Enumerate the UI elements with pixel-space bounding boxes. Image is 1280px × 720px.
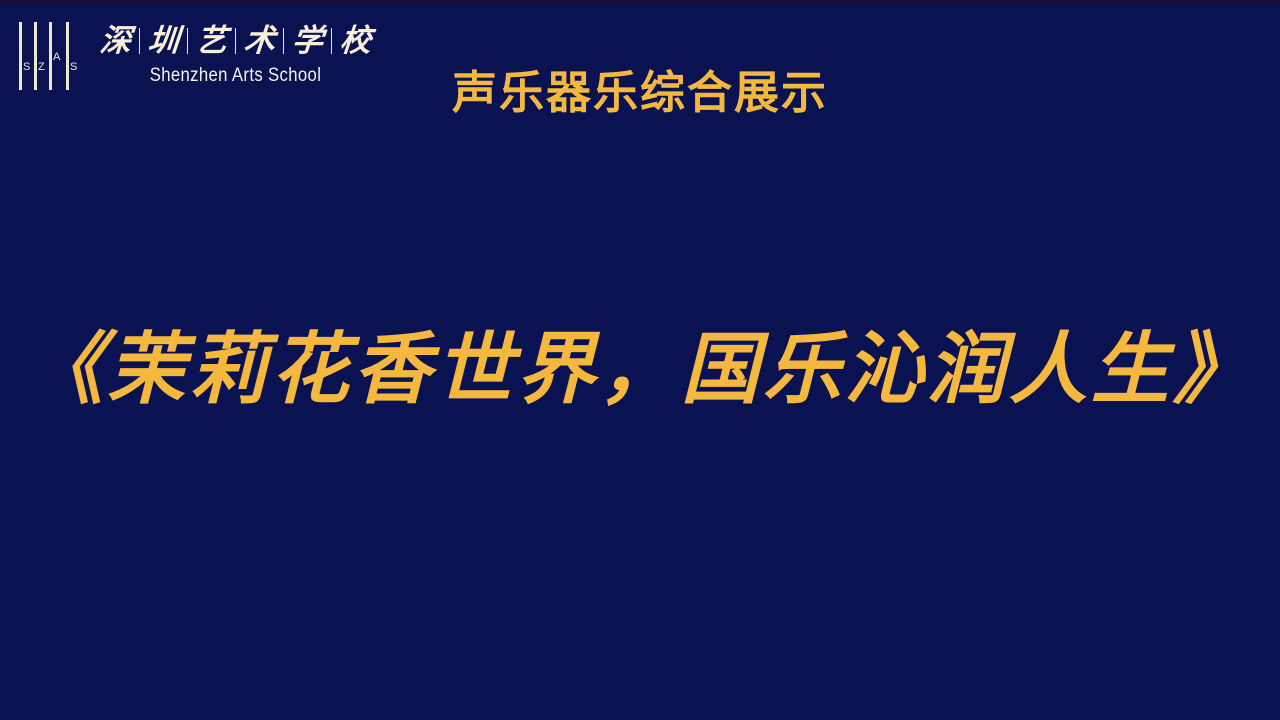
logo-cn-char-6: 校 [335,26,377,57]
logo-cn-separator-3 [235,28,236,54]
mark-letter-a: A [53,52,60,63]
presentation-slide: S Z A S 深 圳 艺 术 学 校 Shenzhen Arts School… [0,0,1280,720]
slide-top-edge [0,0,1280,3]
logo-cn-char-5: 学 [287,26,329,57]
logo-cn-char-3: 艺 [191,26,233,57]
logo-cn-separator-1 [139,28,140,54]
logo-cn-separator-4 [283,28,284,54]
logo-cn-char-2: 圳 [143,26,185,57]
logo-cn-separator-5 [331,28,332,54]
logo-name-cn: 深 圳 艺 术 学 校 [96,20,375,62]
logo-cn-char-1: 深 [95,26,137,57]
slide-main-title: 《茉莉花香世界，国乐沁润人生》 [0,325,1280,415]
logo-cn-separator-2 [187,28,188,54]
slide-header-title: 声乐器乐综合展示 [0,68,1280,118]
logo-cn-char-4: 术 [239,26,281,57]
